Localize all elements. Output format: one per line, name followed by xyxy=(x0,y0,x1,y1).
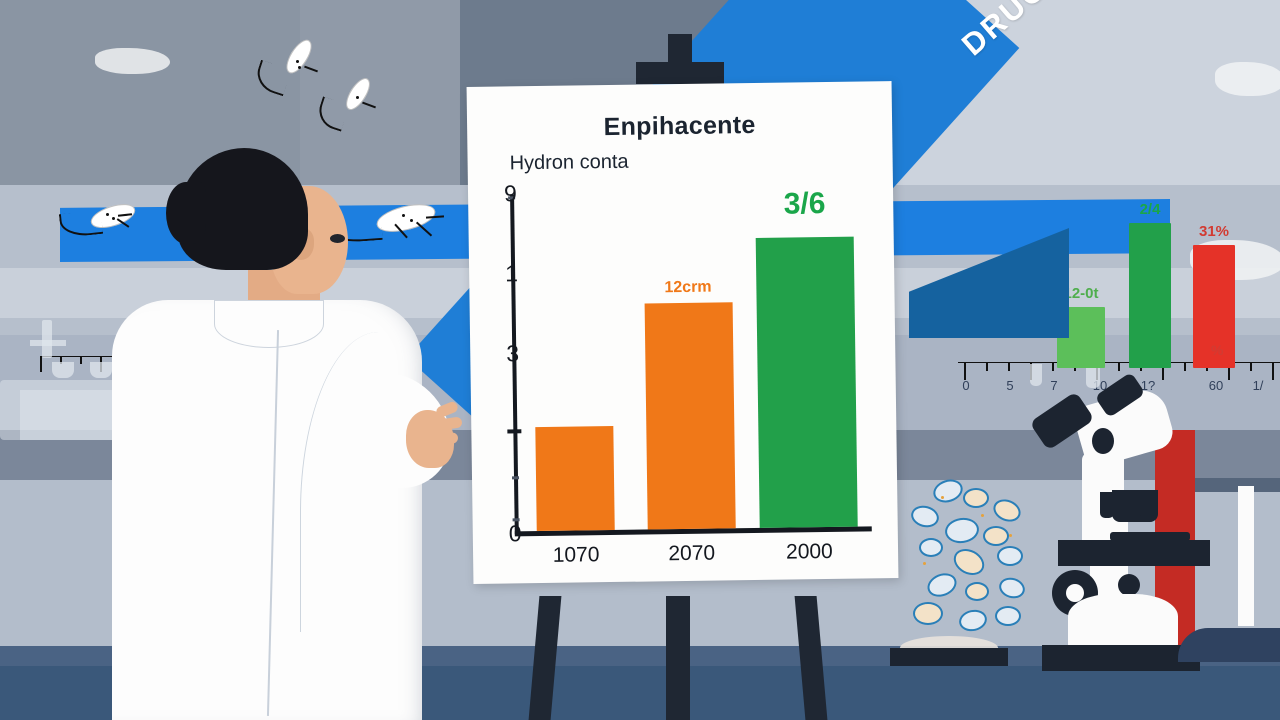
ruler-right-label-0: 0 xyxy=(962,378,969,393)
mini-bar-label-2: 31% xyxy=(1199,223,1229,240)
x-label-1070: 1070 xyxy=(553,543,600,568)
lab-scene: 10 0 5 7 10 1? 60 1/ 12-0t xyxy=(0,0,1280,720)
bar-annotation-12crm: 12crm xyxy=(664,279,711,298)
bar-0 xyxy=(535,425,614,531)
chart-title: Enpihacente xyxy=(467,109,892,144)
scientist-collar xyxy=(214,300,324,348)
chart-poster: Enpihacente Hydron conta 9 1 3 0 12crm 3… xyxy=(467,81,899,584)
wall-dark-column xyxy=(300,0,460,185)
easel-top-bar xyxy=(636,62,724,84)
glassware-8 xyxy=(1030,364,1042,386)
ruler-right-label-7: 7 xyxy=(1050,378,1057,393)
ruler-right-label-1s: 1/ xyxy=(1253,378,1264,393)
ruler-right-label-5: 5 xyxy=(1006,378,1013,393)
mini-bar-label-1: 2/4 xyxy=(1140,201,1161,218)
x-label-2070: 2070 xyxy=(668,542,715,567)
glassware-4 xyxy=(90,362,112,378)
cloud-shape-3 xyxy=(1215,62,1280,96)
glassware-3 xyxy=(52,362,74,378)
bar-1 xyxy=(644,303,735,530)
microscope-stage xyxy=(1058,540,1210,566)
y-tick-mid xyxy=(507,429,521,433)
glassware-2 xyxy=(30,340,66,346)
chart-subtitle: Hydron conta xyxy=(509,151,628,176)
scientist-hair xyxy=(178,148,308,270)
ruler-right-label-60: 60 xyxy=(1209,378,1223,393)
cell-cluster xyxy=(905,478,1045,658)
cloud-shape-1 xyxy=(95,48,170,74)
x-label-2000: 2000 xyxy=(786,540,833,565)
mini-bar-1 xyxy=(1129,223,1171,368)
scientist-hand xyxy=(406,410,454,468)
mini-pct-note: % xyxy=(1211,342,1223,358)
bar-annotation-3-6: 3/6 xyxy=(783,187,825,222)
y-tick-sm2 xyxy=(512,476,519,479)
glassware-7 xyxy=(20,390,115,440)
scientist-eye xyxy=(330,234,345,243)
bar-2 xyxy=(756,237,858,528)
easel-leg-center xyxy=(666,596,690,720)
petri-dish-base xyxy=(890,648,1008,666)
glassware-1 xyxy=(42,320,52,358)
